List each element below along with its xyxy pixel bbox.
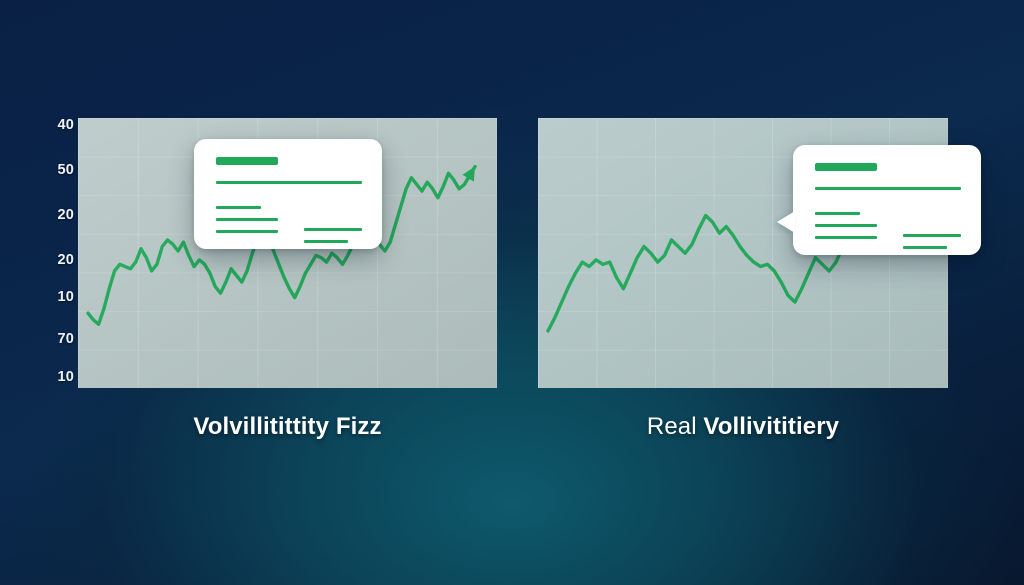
y-axis-tick: 40 <box>57 117 74 133</box>
tooltip-row-bar <box>903 234 961 237</box>
y-axis-tick: 20 <box>57 207 74 223</box>
tooltip-column-right <box>903 212 961 249</box>
tooltip-card-right[interactable] <box>793 145 981 255</box>
tooltip-row-bar <box>903 246 947 249</box>
caption-right: Real Vollivititiery <box>538 413 948 441</box>
tooltip-column-right <box>304 206 362 243</box>
tooltip-row-bar <box>815 224 877 227</box>
tooltip-row-bar <box>304 228 362 231</box>
y-axis-tick: 10 <box>57 289 74 305</box>
y-axis: 40502020107010 <box>30 112 74 390</box>
infographic-canvas: 40502020107010 <box>0 0 1024 585</box>
caption-left: Volvillitittity Fizz <box>78 413 497 441</box>
tooltip-header-bar <box>815 163 877 171</box>
tooltip-card-left[interactable] <box>194 139 382 249</box>
tooltip-row-bar <box>815 236 877 239</box>
tooltip-column-left <box>216 206 278 243</box>
tooltip-divider-rule <box>216 181 362 184</box>
tooltip-row-bar <box>216 230 278 233</box>
tooltip-row-bar <box>216 206 261 209</box>
y-axis-tick: 10 <box>57 369 74 385</box>
tooltip-row-bar <box>815 212 860 215</box>
tooltip-divider-rule <box>815 187 961 190</box>
y-axis-tick: 50 <box>57 162 74 178</box>
tooltip-row-bar <box>304 240 348 243</box>
tooltip-header-bar <box>216 157 278 165</box>
caption-left-text: Volvillitittity Fizz <box>193 413 381 440</box>
caption-right-text: Vollivititiery <box>703 413 839 440</box>
tooltip-row-bar <box>216 218 278 221</box>
tooltip-column-left <box>815 212 877 249</box>
y-axis-tick: 70 <box>57 331 74 347</box>
y-axis-tick: 20 <box>57 252 74 268</box>
caption-right-lead: Real <box>647 413 704 440</box>
